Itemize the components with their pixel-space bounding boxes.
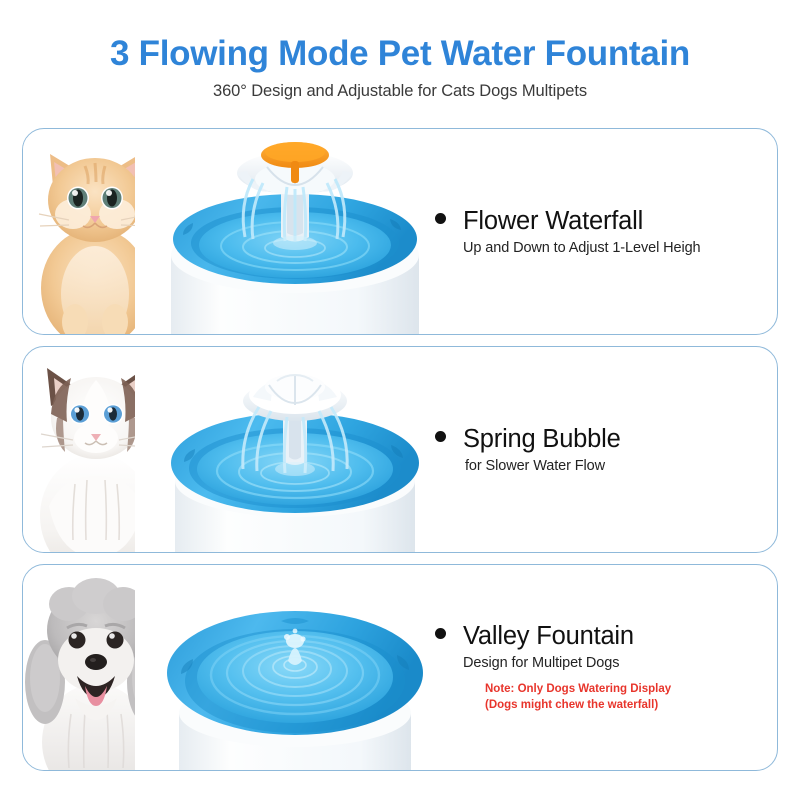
feature-text-block: Flower Waterfall Up and Down to Adjust 1… [435, 129, 775, 334]
note-line-1: Note: Only Dogs Watering Display [485, 682, 775, 698]
feature-title: Valley Fountain [463, 622, 634, 650]
note-line-2: (Dogs might chew the waterfall) [485, 698, 775, 714]
feature-subtitle: Design for Multipet Dogs [463, 655, 775, 671]
feature-warning-note: Note: Only Dogs Watering Display (Dogs m… [485, 682, 775, 713]
feature-heading: Spring Bubble [435, 425, 775, 453]
flower-waterfall-fountain [135, 128, 455, 334]
bullet-icon [435, 431, 446, 442]
feature-subtitle: for Slower Water Flow [465, 458, 775, 474]
feature-text-block: Valley Fountain Design for Multipet Dogs… [435, 565, 775, 770]
feature-title: Flower Waterfall [463, 207, 643, 235]
feature-card-valley-fountain[interactable]: Valley Fountain Design for Multipet Dogs… [22, 564, 778, 771]
feature-title: Spring Bubble [463, 425, 621, 453]
feature-subtitle: Up and Down to Adjust 1-Level Heigh [463, 240, 775, 256]
feature-heading: Valley Fountain [435, 622, 775, 650]
bullet-icon [435, 213, 446, 224]
page-subtitle: 360° Design and Adjustable for Cats Dogs… [0, 82, 800, 101]
feature-card-spring-bubble[interactable]: Spring Bubble for Slower Water Flow [22, 346, 778, 553]
spring-bubble-fountain [135, 346, 455, 552]
feature-heading: Flower Waterfall [435, 207, 775, 235]
feature-text-block: Spring Bubble for Slower Water Flow [435, 347, 775, 552]
valley-fountain [135, 564, 455, 770]
page-title: 3 Flowing Mode Pet Water Fountain [0, 36, 800, 73]
feature-card-list: Flower Waterfall Up and Down to Adjust 1… [22, 128, 778, 782]
bullet-icon [435, 628, 446, 639]
page-header: 3 Flowing Mode Pet Water Fountain 360° D… [0, 0, 800, 101]
feature-card-flower-waterfall[interactable]: Flower Waterfall Up and Down to Adjust 1… [22, 128, 778, 335]
